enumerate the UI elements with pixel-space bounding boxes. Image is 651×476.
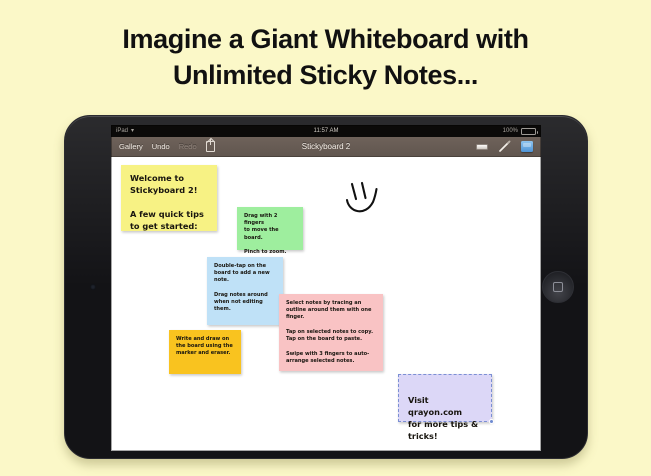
marker-pencil-icon[interactable] bbox=[498, 140, 511, 153]
sticky-note-drag[interactable]: Drag with 2 fingers to move the board. P… bbox=[237, 207, 303, 250]
sticky-note-visit-text: Visit qrayon.com for more tips & tricks! bbox=[408, 395, 478, 441]
app-toolbar: Gallery Undo Redo Stickyboard 2 bbox=[111, 137, 541, 157]
ipad-screen: iPad ▾ 11:57 AM 100% Gallery Undo Redo S… bbox=[111, 125, 541, 451]
sticky-note-visit[interactable]: Visit qrayon.com for more tips & tricks! bbox=[398, 374, 492, 422]
headline-line-2: Unlimited Sticky Notes... bbox=[0, 58, 651, 94]
ipad-device: iPad ▾ 11:57 AM 100% Gallery Undo Redo S… bbox=[64, 115, 588, 459]
battery-percent-label: 100% bbox=[503, 128, 518, 134]
battery-cap bbox=[537, 131, 539, 134]
sticky-note-doubletap[interactable]: Double-tap on the board to add a new not… bbox=[207, 257, 283, 325]
sticky-note-welcome[interactable]: Welcome to Stickyboard 2! A few quick ti… bbox=[121, 165, 217, 231]
redo-button[interactable]: Redo bbox=[179, 142, 197, 151]
camera-icon bbox=[90, 284, 96, 290]
status-bar: iPad ▾ 11:57 AM 100% bbox=[111, 125, 541, 137]
battery-full-icon bbox=[521, 128, 536, 135]
eraser-icon[interactable] bbox=[476, 144, 488, 150]
sticky-note-icon[interactable] bbox=[521, 141, 533, 152]
sticky-note-write[interactable]: Write and draw on the board using the ma… bbox=[169, 330, 241, 374]
toolbar-tools bbox=[476, 140, 533, 153]
whiteboard-canvas[interactable]: Welcome to Stickyboard 2! A few quick ti… bbox=[111, 157, 541, 451]
selection-resize-handle[interactable] bbox=[489, 419, 494, 424]
hand-drawn-smiley-face bbox=[343, 180, 387, 220]
status-bar-right: 100% bbox=[503, 128, 536, 135]
status-bar-time: 11:57 AM bbox=[111, 128, 541, 134]
headline-line-1: Imagine a Giant Whiteboard with bbox=[0, 22, 651, 58]
gallery-button[interactable]: Gallery bbox=[119, 142, 143, 151]
home-button-icon[interactable] bbox=[542, 271, 574, 303]
undo-button[interactable]: Undo bbox=[152, 142, 170, 151]
page-title: Imagine a Giant Whiteboard with Unlimite… bbox=[0, 22, 651, 93]
share-icon[interactable] bbox=[206, 141, 215, 152]
home-button-square bbox=[553, 282, 563, 292]
sticky-note-select[interactable]: Select notes by tracing an outline aroun… bbox=[279, 294, 383, 371]
